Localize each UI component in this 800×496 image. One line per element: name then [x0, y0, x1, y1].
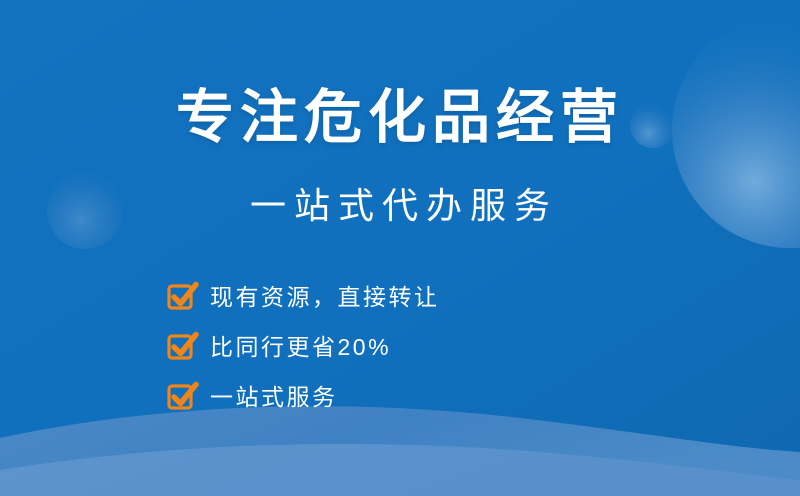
- subheadline: 一站式代办服务: [0, 183, 800, 228]
- feature-list: 现有资源，直接转让 比同行更省20% 一站式: [168, 272, 688, 422]
- list-item: 现有资源，直接转让: [168, 272, 688, 322]
- list-item-label: 比同行更省20%: [210, 336, 391, 359]
- list-item-label: 现有资源，直接转让: [210, 286, 440, 309]
- banner-content: 专注危化品经营 一站式代办服务 现有资源，直接转让: [0, 0, 800, 496]
- list-item: 一站式服务: [168, 372, 688, 422]
- checkbox-checked-icon: [168, 384, 194, 410]
- checkbox-checked-icon: [168, 284, 194, 310]
- list-item-label: 一站式服务: [210, 386, 338, 409]
- list-item: 比同行更省20%: [168, 322, 688, 372]
- promo-banner: 专注危化品经营 一站式代办服务 现有资源，直接转让: [0, 0, 800, 496]
- checkbox-checked-icon: [168, 334, 194, 360]
- headline: 专注危化品经营: [0, 84, 800, 151]
